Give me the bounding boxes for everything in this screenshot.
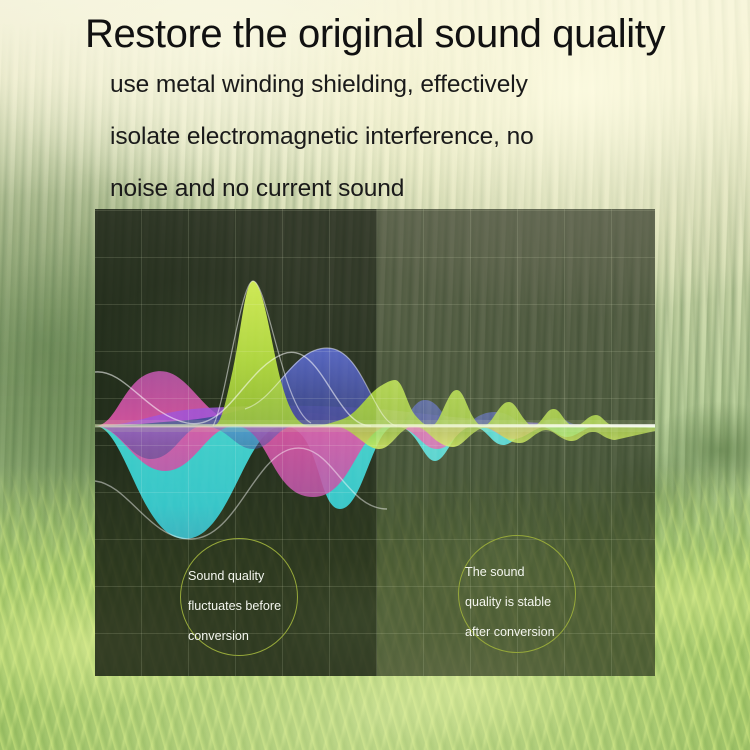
- annotation-text-after: The sound quality is stable after conver…: [465, 557, 555, 647]
- subtitle-line-3: noise and no current sound: [110, 174, 404, 204]
- promo-banner: Restore the original sound quality use m…: [0, 0, 750, 750]
- wave-axis-glow: [95, 420, 655, 432]
- annotation-before-line-1: Sound quality: [188, 561, 281, 591]
- annotation-before-line-2: fluctuates before: [188, 591, 281, 621]
- annotation-text-before: Sound quality fluctuates before conversi…: [188, 561, 281, 651]
- annotation-after-line-2: quality is stable: [465, 587, 555, 617]
- annotation-after-line-3: after conversion: [465, 617, 555, 647]
- subtitle-line-1: use metal winding shielding, effectively: [110, 70, 528, 100]
- page-title: Restore the original sound quality: [0, 10, 750, 58]
- annotation-before-line-3: conversion: [188, 621, 281, 651]
- annotation-after-line-1: The sound: [465, 557, 555, 587]
- waveform-panel: Sound quality fluctuates before conversi…: [95, 209, 655, 676]
- subtitle-line-2: isolate electromagnetic interference, no: [110, 122, 534, 152]
